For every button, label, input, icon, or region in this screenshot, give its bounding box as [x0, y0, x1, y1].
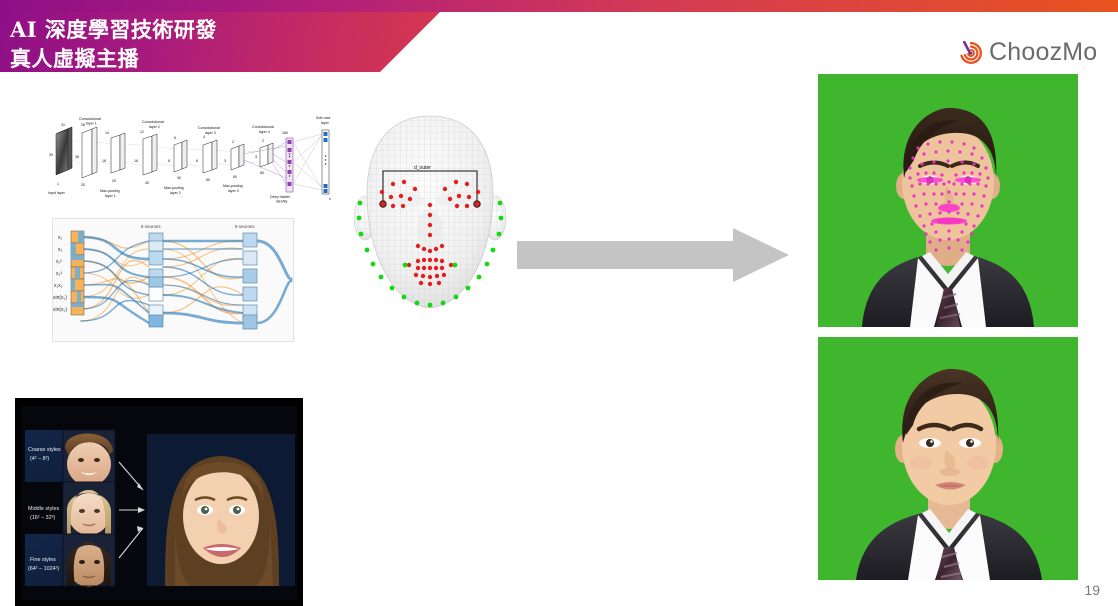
anchor-portrait-with-landmarks: [818, 74, 1078, 327]
svg-text:x₁x₂: x₁x₂: [54, 283, 63, 289]
page-title-line-2: 真人虛擬主播: [10, 44, 440, 73]
svg-text:39: 39: [49, 153, 53, 157]
mesh-annotation-label: d_outer: [414, 165, 431, 171]
svg-text:40: 40: [177, 176, 181, 180]
svg-text:8: 8: [168, 159, 170, 163]
deepid-cnn-architecture-figure: 31 39 1 Input layer 28 36 20 Convolution…: [48, 112, 348, 204]
svg-text:2: 2: [262, 139, 264, 143]
brand-logo: ChoozMo: [958, 38, 1097, 67]
brand-name: ChoozMo: [989, 38, 1097, 67]
svg-text:layer 3: layer 3: [228, 189, 239, 193]
page-number: 19: [1084, 582, 1100, 598]
slide-canvas: AI 深度學習技術研發 真人虛擬主播 ChoozMo: [0, 0, 1118, 606]
process-arrow: [517, 228, 789, 282]
svg-text:Max-pooling: Max-pooling: [100, 189, 120, 193]
top-gradient-bar: [0, 0, 1118, 12]
svg-text:x₂: x₂: [58, 247, 63, 253]
stylegan-row-label-fine: Fine styles: [30, 557, 56, 563]
spiral-logo-icon: [958, 40, 984, 66]
anchor-portrait-rendered: [818, 337, 1078, 580]
svg-text:6: 6: [174, 136, 176, 140]
stylegan-row-range-middle: (16² – 32²): [30, 515, 55, 521]
svg-text:Convolutional: Convolutional: [79, 117, 101, 121]
svg-text:28: 28: [81, 123, 85, 127]
svg-text:sin(x₁): sin(x₁): [53, 295, 67, 301]
svg-text:x₁²: x₁²: [56, 259, 62, 265]
svg-text:2: 2: [232, 140, 234, 144]
stylegan-row-label-middle: Middle styles: [28, 506, 59, 512]
svg-text:sin(x₂): sin(x₂): [53, 307, 67, 313]
svg-text:60: 60: [206, 178, 210, 182]
svg-text:x₁: x₁: [58, 235, 63, 241]
svg-text:60: 60: [233, 175, 237, 179]
stylegan-row-range-fine: (64² – 1024²): [28, 566, 59, 572]
svg-text:layer 2: layer 2: [149, 125, 160, 129]
svg-text:6: 6: [196, 159, 198, 163]
svg-text:Soft-max: Soft-max: [316, 116, 331, 120]
svg-text:Input layer: Input layer: [48, 191, 66, 195]
stylegan-row-label-coarse: Coarse styles: [28, 447, 61, 453]
svg-text:3: 3: [224, 159, 226, 163]
stylegan-row-range-coarse: (4² – 8²): [30, 456, 49, 462]
svg-text:layer 3: layer 3: [205, 131, 216, 135]
svg-text:14: 14: [105, 131, 109, 135]
svg-text:12: 12: [140, 130, 144, 134]
svg-text:80: 80: [260, 171, 264, 175]
stylegan-style-mixing-figure: Coarse styles (4² – 8²) Middle styles (1…: [15, 398, 303, 606]
page-title-line-1: AI 深度學習技術研發: [10, 15, 440, 44]
svg-text:160: 160: [282, 131, 288, 135]
svg-text:18: 18: [102, 159, 106, 163]
svg-text:8 neurons: 8 neurons: [141, 224, 161, 229]
svg-text:36: 36: [75, 155, 79, 159]
svg-text:identity: identity: [276, 200, 288, 204]
svg-text:layer 1: layer 1: [86, 122, 97, 126]
svg-text:Max-pooling: Max-pooling: [223, 184, 243, 188]
svg-text:x₂²: x₂²: [56, 271, 62, 277]
svg-text:layer 2: layer 2: [170, 191, 181, 195]
svg-text:20: 20: [112, 179, 116, 183]
svg-text:layer: layer: [321, 121, 330, 125]
svg-text:layer 4: layer 4: [259, 130, 270, 134]
title-banner: AI 深度學習技術研發 真人虛擬主播: [0, 12, 440, 72]
svg-text:31: 31: [61, 123, 65, 127]
3d-face-landmark-mesh-figure: d_outer: [346, 108, 514, 330]
svg-text:n: n: [329, 197, 331, 201]
svg-text:Convolutional: Convolutional: [198, 126, 220, 130]
fully-connected-network-figure: x₁x₂x₁² x₂²x₁x₂ sin(x₁)sin(x₂): [52, 218, 294, 342]
svg-text:Convolutional: Convolutional: [252, 125, 274, 129]
svg-text:20: 20: [81, 183, 85, 187]
svg-text:1: 1: [57, 182, 59, 186]
svg-text:Convolutional: Convolutional: [142, 120, 164, 124]
svg-text:3: 3: [255, 155, 257, 159]
svg-text:16: 16: [134, 159, 138, 163]
svg-text:Deep hidden: Deep hidden: [270, 195, 290, 199]
svg-text:Max-pooling: Max-pooling: [164, 186, 184, 190]
svg-text:4: 4: [203, 135, 205, 139]
svg-text:40: 40: [145, 181, 149, 185]
svg-text:layer 1: layer 1: [105, 194, 116, 198]
svg-text:8 neurons: 8 neurons: [235, 224, 255, 229]
